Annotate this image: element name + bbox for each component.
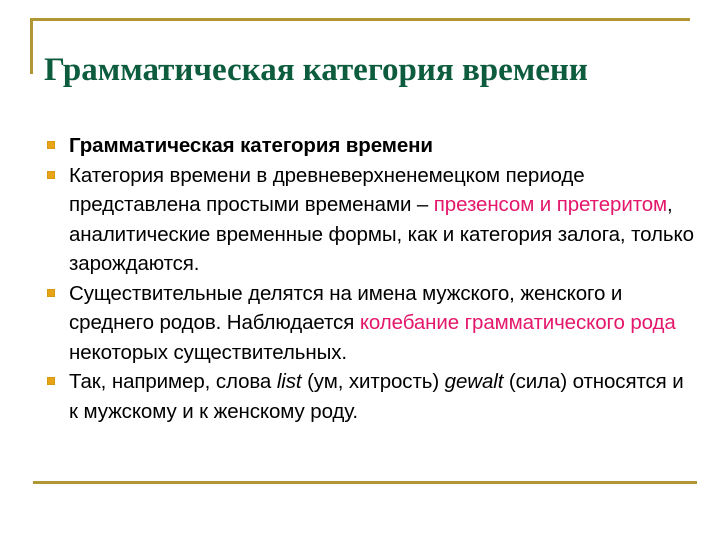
top-rule-decoration [30, 18, 690, 21]
left-rule-decoration [30, 18, 33, 74]
bullet-list-item: Категория времени в древневерхненемецком… [44, 161, 694, 279]
slide-bullet-list: Грамматическая категория времени Категор… [44, 131, 694, 426]
text-run-bold: Грамматическая категория времени [69, 134, 433, 157]
square-bullet-icon [47, 171, 55, 179]
square-bullet-icon [47, 289, 55, 297]
text-run-italic: gewalt [445, 370, 504, 393]
square-bullet-icon [47, 377, 55, 385]
text-run-normal: Так, например, слова [69, 370, 277, 393]
bullet-list-item: Грамматическая категория времени [44, 131, 694, 161]
bullet-list-item: Так, например, слова list (ум, хитрость)… [44, 367, 694, 426]
bullet-text: Категория времени в древневерхненемецком… [69, 161, 694, 279]
bullet-text: Грамматическая категория времени [69, 131, 694, 161]
bullet-list-item: Существительные делятся на имена мужског… [44, 279, 694, 368]
text-run-normal: некоторых существительных. [69, 341, 347, 364]
text-run-italic: list [277, 370, 302, 393]
bullet-text: Так, например, слова list (ум, хитрость)… [69, 367, 694, 426]
presentation-slide: Грамматическая категория времени Граммат… [0, 0, 720, 540]
text-run-accent: презенсом и претеритом [434, 193, 667, 216]
square-bullet-icon [47, 141, 55, 149]
slide-title: Грамматическая категория времени [44, 50, 704, 90]
text-run-normal: (ум, хитрость) [301, 370, 444, 393]
bottom-rule-decoration [33, 481, 697, 484]
text-run-accent: колебание грамматического рода [360, 311, 676, 334]
bullet-text: Существительные делятся на имена мужског… [69, 279, 694, 368]
